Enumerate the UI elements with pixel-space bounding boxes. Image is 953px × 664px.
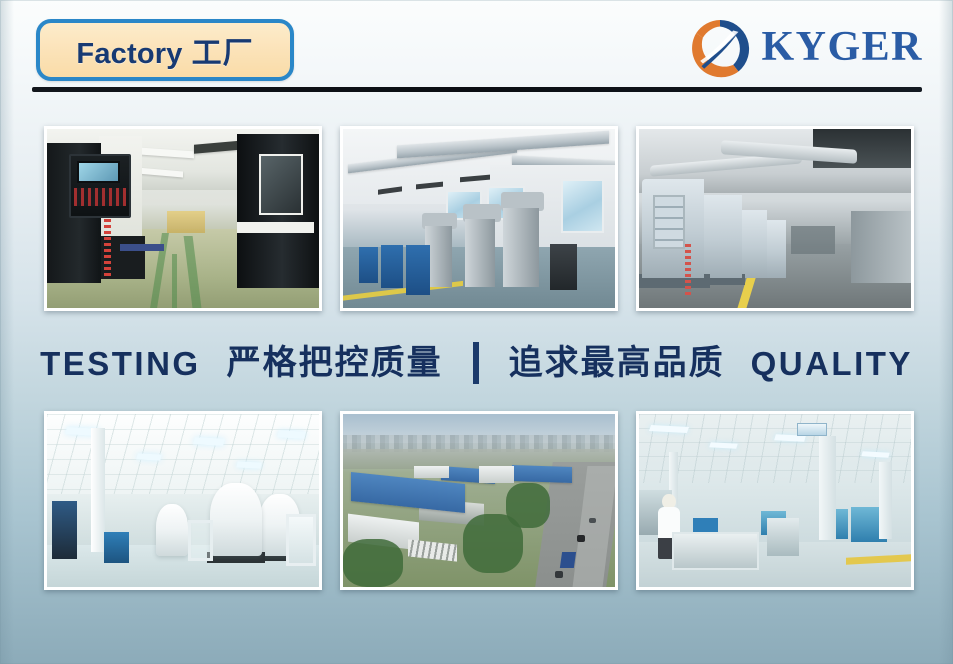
kyger-swoosh-logo-icon: [687, 16, 753, 82]
photo-machining-center-row: [636, 126, 914, 311]
gallery-top-row: [44, 126, 914, 311]
badge-label: Factory工厂: [76, 28, 253, 72]
photo-cnc-machining-corridor: [44, 126, 322, 311]
factory-title-badge: Factory工厂: [36, 19, 294, 81]
brand-lockup: KYGER: [687, 16, 923, 82]
headline-divider: [473, 342, 479, 384]
photo-factory-aerial-view: [340, 411, 618, 590]
slide-header: Factory工厂 KYGER: [0, 0, 953, 100]
photo-coating-cleanroom: [44, 411, 322, 590]
headline-quality-cn: 追求最高品质: [509, 346, 725, 380]
headline-testing-cn: 严格把控质量: [227, 346, 443, 380]
badge-label-cn: 工厂: [192, 37, 254, 70]
header-divider-rule: [32, 87, 922, 92]
brand-wordmark: KYGER: [761, 26, 923, 72]
headline-testing-en: TESTING: [40, 347, 201, 380]
badge-label-en: Factory: [76, 38, 182, 70]
gallery-bottom-row: [44, 411, 914, 590]
headline-band: TESTING 严格把控质量 追求最高品质 QUALITY: [0, 334, 953, 392]
photo-milling-machine-line: [340, 126, 618, 311]
photo-assembly-test-area: [636, 411, 914, 590]
headline-quality-en: QUALITY: [751, 347, 913, 380]
